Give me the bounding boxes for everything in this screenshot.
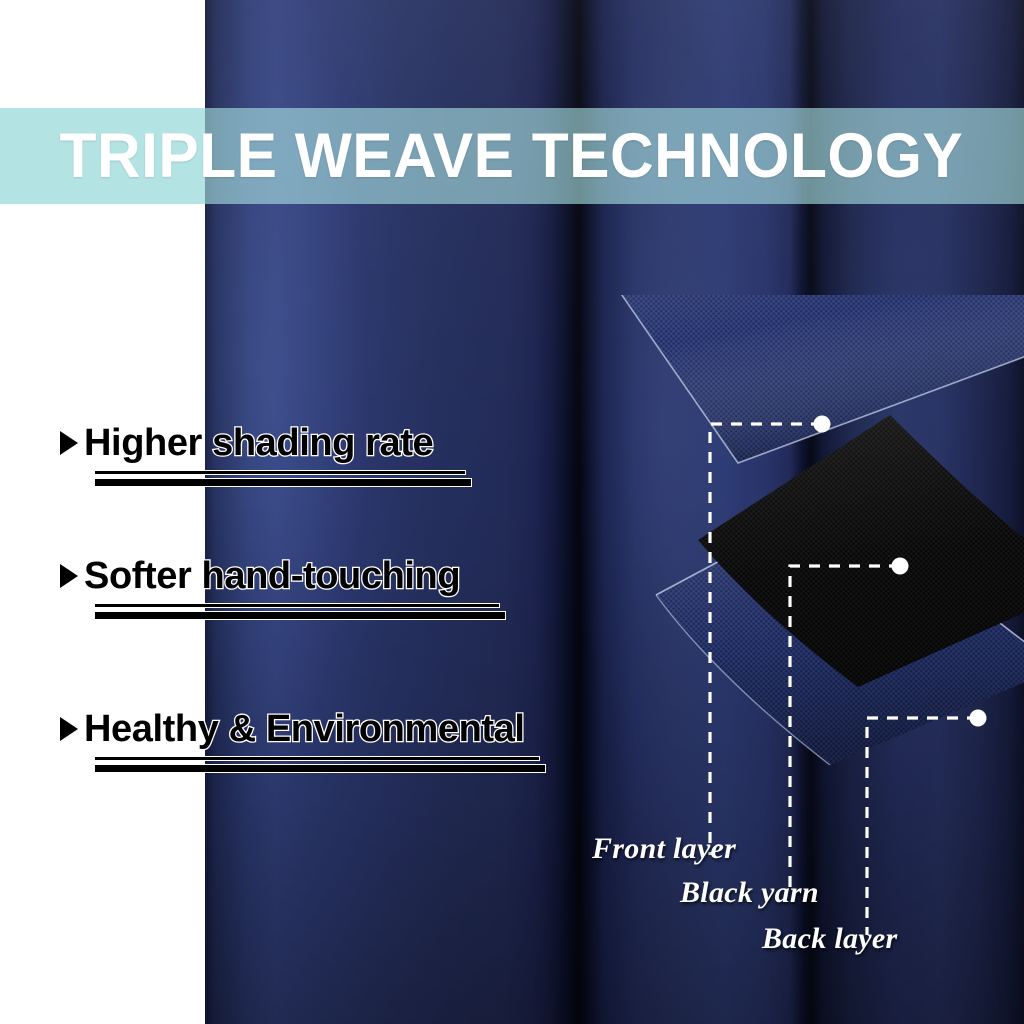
underline-thin	[94, 470, 466, 475]
feature-item-healthy-environmental: Healthy & Environmental	[60, 710, 580, 778]
feature-underline-bars	[60, 756, 580, 778]
feature-underline-bars	[60, 470, 580, 492]
feature-item-softer-hand-touching: Softer hand-touching	[60, 557, 580, 625]
underline-thin	[94, 756, 540, 761]
underline-thick	[94, 478, 472, 487]
feature-label: Higher shading rate	[84, 424, 433, 463]
caret-right-icon	[60, 717, 78, 741]
feature-label: Softer hand-touching	[84, 557, 460, 596]
feature-row: Softer hand-touching	[60, 557, 580, 596]
callout-label-black-yarn: Black yarn	[680, 876, 819, 910]
fabric-layer-front	[608, 295, 1024, 463]
feature-row: Higher shading rate	[60, 424, 580, 463]
callout-label-front-layer: Front layer	[592, 832, 736, 866]
callout-label-back-layer: Back layer	[762, 922, 897, 956]
product-infographic: TRIPLE WEAVE TECHNOLOGY Higher shading r…	[0, 0, 1024, 1024]
page-title: TRIPLE WEAVE TECHNOLOGY	[0, 108, 983, 204]
feature-label: Healthy & Environmental	[84, 710, 525, 749]
headline-banner: TRIPLE WEAVE TECHNOLOGY	[0, 108, 1024, 204]
underline-thin	[94, 603, 500, 608]
underline-thick	[94, 611, 506, 620]
caret-right-icon	[60, 564, 78, 588]
underline-thick	[94, 764, 546, 773]
feature-row: Healthy & Environmental	[60, 710, 580, 749]
feature-item-higher-shading-rate: Higher shading rate	[60, 424, 580, 492]
caret-right-icon	[60, 431, 78, 455]
callout-back-layer	[867, 710, 987, 936]
top-left-white-panel	[0, 0, 205, 108]
feature-underline-bars	[60, 603, 580, 625]
